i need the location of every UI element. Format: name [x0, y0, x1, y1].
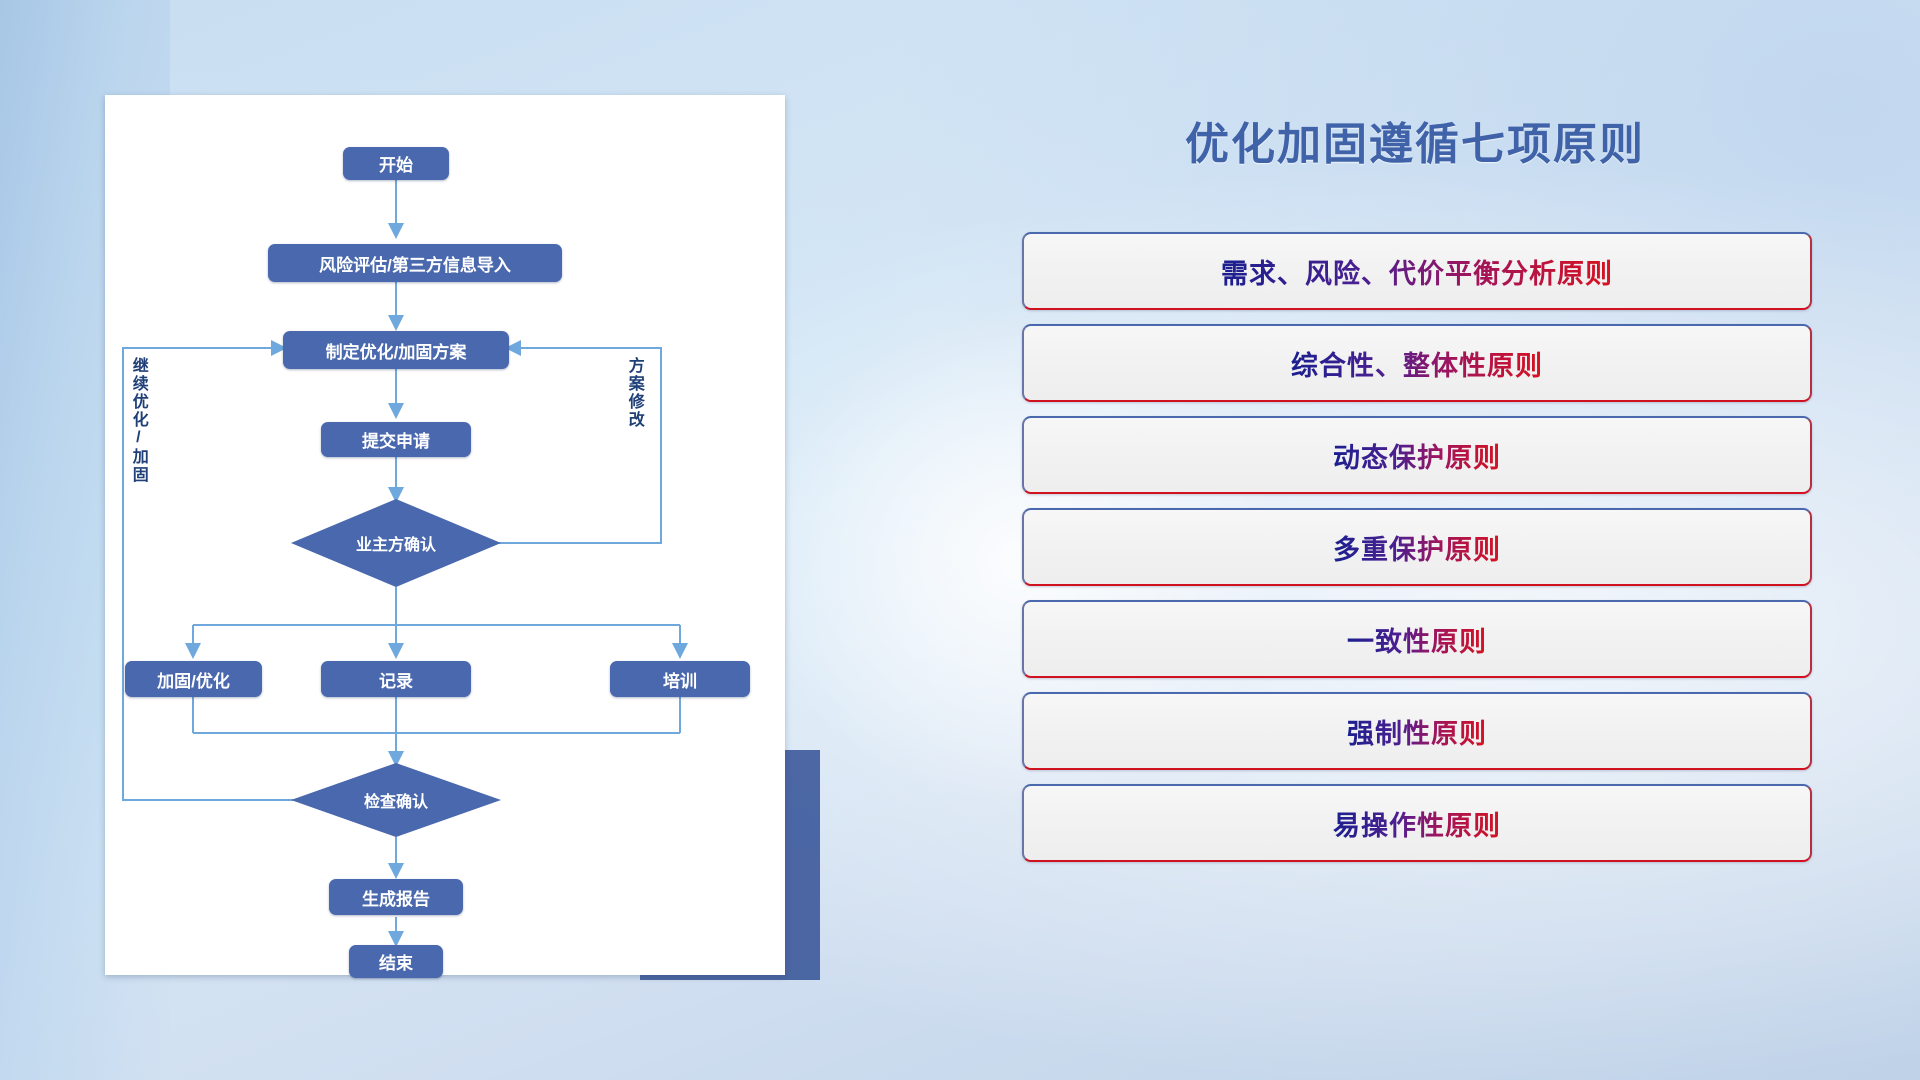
flow-node-risk-assessment[interactable]: 风险评估/第三方信息导入 [268, 244, 562, 282]
principles-list: 需求、风险、代价平衡分析原则 综合性、整体性原则 动态保护原则 多重保护原则 一… [1022, 232, 1812, 876]
principle-label: 多重保护原则 [1333, 528, 1501, 567]
principle-label: 需求、风险、代价平衡分析原则 [1221, 252, 1613, 291]
flow-node-owner-confirm[interactable]: 业主方确认 [291, 499, 501, 587]
flow-node-generate-report[interactable]: 生成报告 [329, 879, 463, 915]
flow-node-record[interactable]: 记录 [321, 661, 471, 697]
panel-title: 优化加固遵循七项原则 [1020, 108, 1810, 172]
flow-node-reinforce-optimize[interactable]: 加固/优化 [125, 661, 262, 697]
principle-label: 动态保护原则 [1333, 436, 1501, 475]
principle-item[interactable]: 一致性原则 [1022, 600, 1812, 678]
flow-node-make-plan[interactable]: 制定优化/加固方案 [283, 331, 509, 369]
principle-label: 一致性原则 [1347, 620, 1487, 659]
principle-label: 易操作性原则 [1333, 804, 1501, 843]
flow-node-check-confirm[interactable]: 检查确认 [291, 763, 501, 837]
flowchart-card: 继续优化/加固 方案修改 开始 风险评估/第三方信息导入 制定优化/加固方案 提… [105, 95, 785, 975]
flow-node-start[interactable]: 开始 [343, 147, 449, 180]
principle-label: 强制性原则 [1347, 712, 1487, 751]
principle-item[interactable]: 动态保护原则 [1022, 416, 1812, 494]
flow-label-plan-revision: 方案修改 [625, 357, 642, 467]
flow-node-submit-application[interactable]: 提交申请 [321, 422, 471, 457]
principle-item[interactable]: 综合性、整体性原则 [1022, 324, 1812, 402]
flow-node-training[interactable]: 培训 [610, 661, 750, 697]
principle-item[interactable]: 多重保护原则 [1022, 508, 1812, 586]
principle-item[interactable]: 易操作性原则 [1022, 784, 1812, 862]
principle-label: 综合性、整体性原则 [1291, 344, 1543, 383]
principle-item[interactable]: 需求、风险、代价平衡分析原则 [1022, 232, 1812, 310]
principle-item[interactable]: 强制性原则 [1022, 692, 1812, 770]
flow-label-continue-optimize: 继续优化/加固 [129, 357, 146, 527]
flow-node-end[interactable]: 结束 [349, 945, 443, 978]
